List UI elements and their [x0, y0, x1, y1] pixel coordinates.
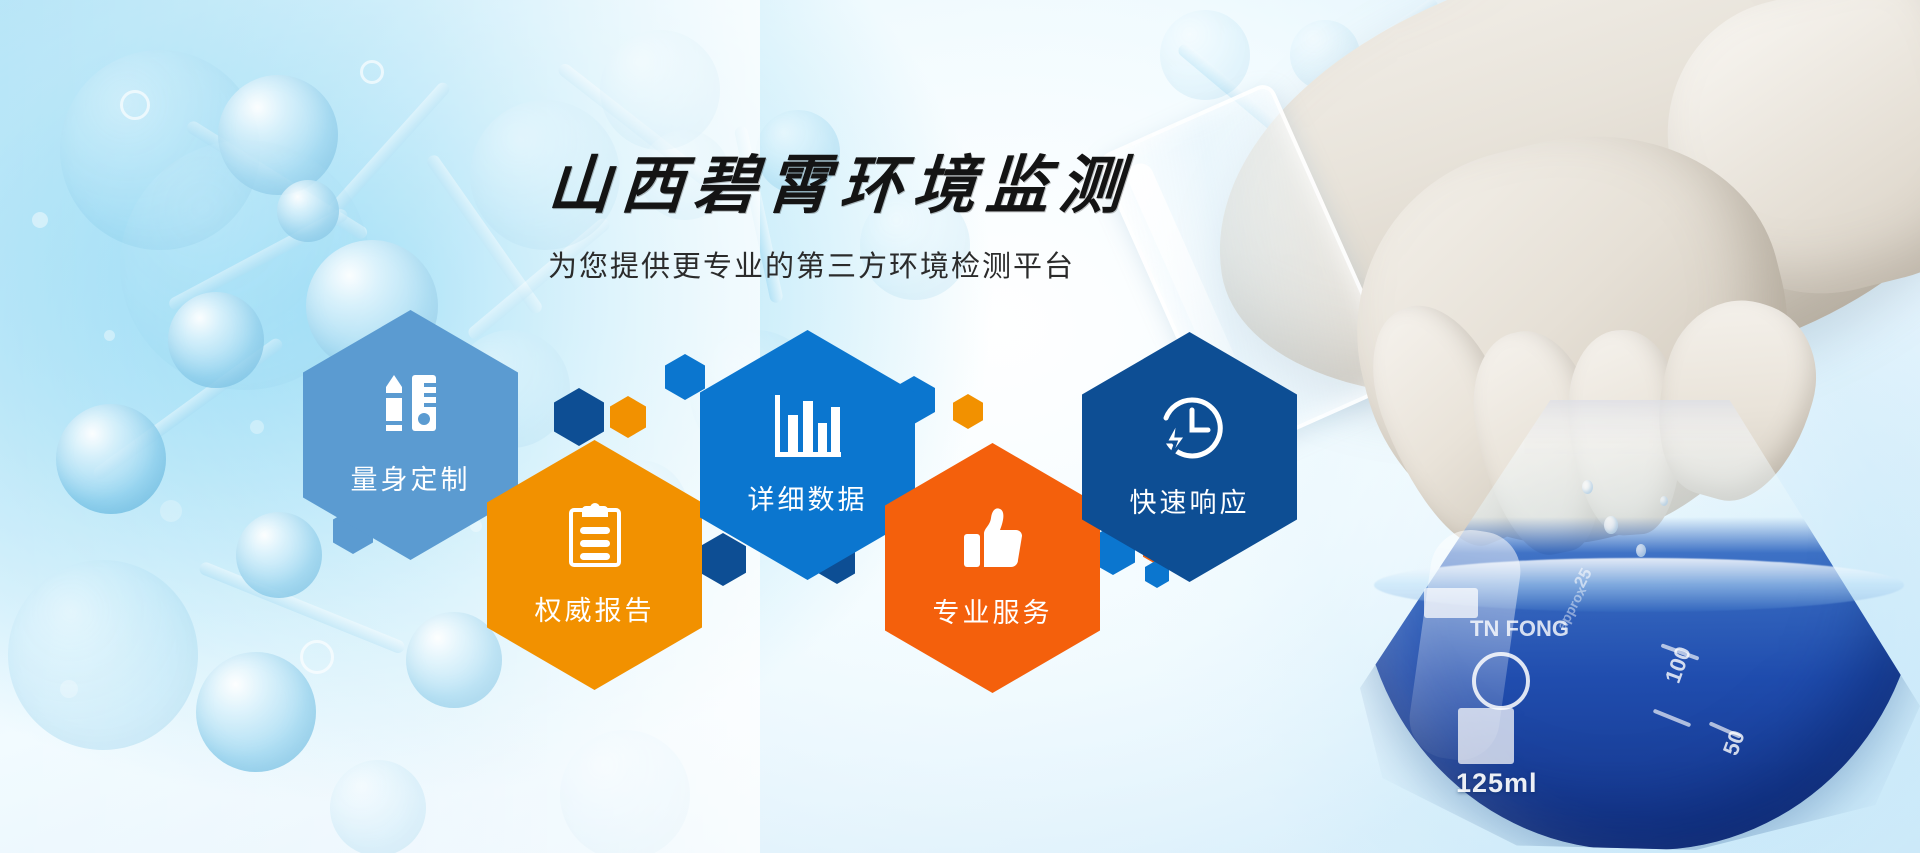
hero-banner: TN FONG 125ml 100 50 25 approx 山西碧霄环境监测 … — [0, 0, 1920, 853]
feature-label: 详细数据 — [748, 478, 868, 517]
clock-bolt-icon — [1156, 394, 1224, 467]
thumbs-up-icon — [960, 506, 1026, 577]
decor-hexagon — [610, 396, 646, 438]
feature-label: 快速响应 — [1130, 481, 1250, 520]
feature-hexagon-report[interactable]: 权威报告 — [487, 440, 702, 690]
feature-label: 量身定制 — [351, 458, 471, 497]
decor-hexagon — [554, 388, 604, 446]
decor-hexagon — [700, 533, 746, 586]
bar-chart-icon — [773, 393, 843, 464]
feature-label: 专业服务 — [933, 591, 1053, 630]
feature-hexagon-service[interactable]: 专业服务 — [885, 443, 1100, 693]
decor-hexagon — [665, 354, 705, 400]
pencil-ruler-icon — [380, 373, 442, 444]
feature-label: 权威报告 — [535, 589, 655, 628]
decor-hexagon — [953, 394, 983, 429]
clipboard-icon — [566, 502, 624, 575]
hexagon-cluster: 量身定制 权威报告 — [0, 0, 1920, 853]
